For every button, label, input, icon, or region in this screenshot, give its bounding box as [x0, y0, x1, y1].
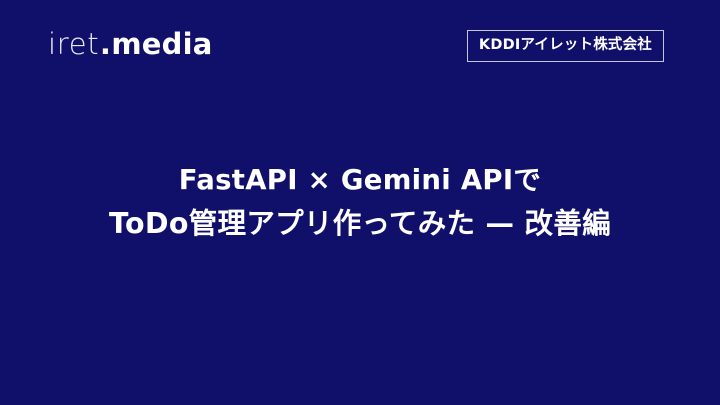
title-line-2: ToDo管理アプリ作ってみた — 改善編 [109, 202, 611, 245]
company-badge: KDDIアイレット株式会社 [467, 30, 664, 62]
title-line-1: FastAPI × Gemini APIで [179, 160, 541, 202]
logo-text-media: media [111, 30, 212, 59]
title-slide: iret . media KDDIアイレット株式会社 FastAPI × Gem… [0, 0, 720, 405]
iret-media-logo[interactable]: iret . media [48, 30, 213, 59]
logo-dot-separator: . [100, 30, 111, 59]
logo-text-iret: iret [48, 30, 99, 59]
slide-header: iret . media KDDIアイレット株式会社 [0, 0, 720, 100]
